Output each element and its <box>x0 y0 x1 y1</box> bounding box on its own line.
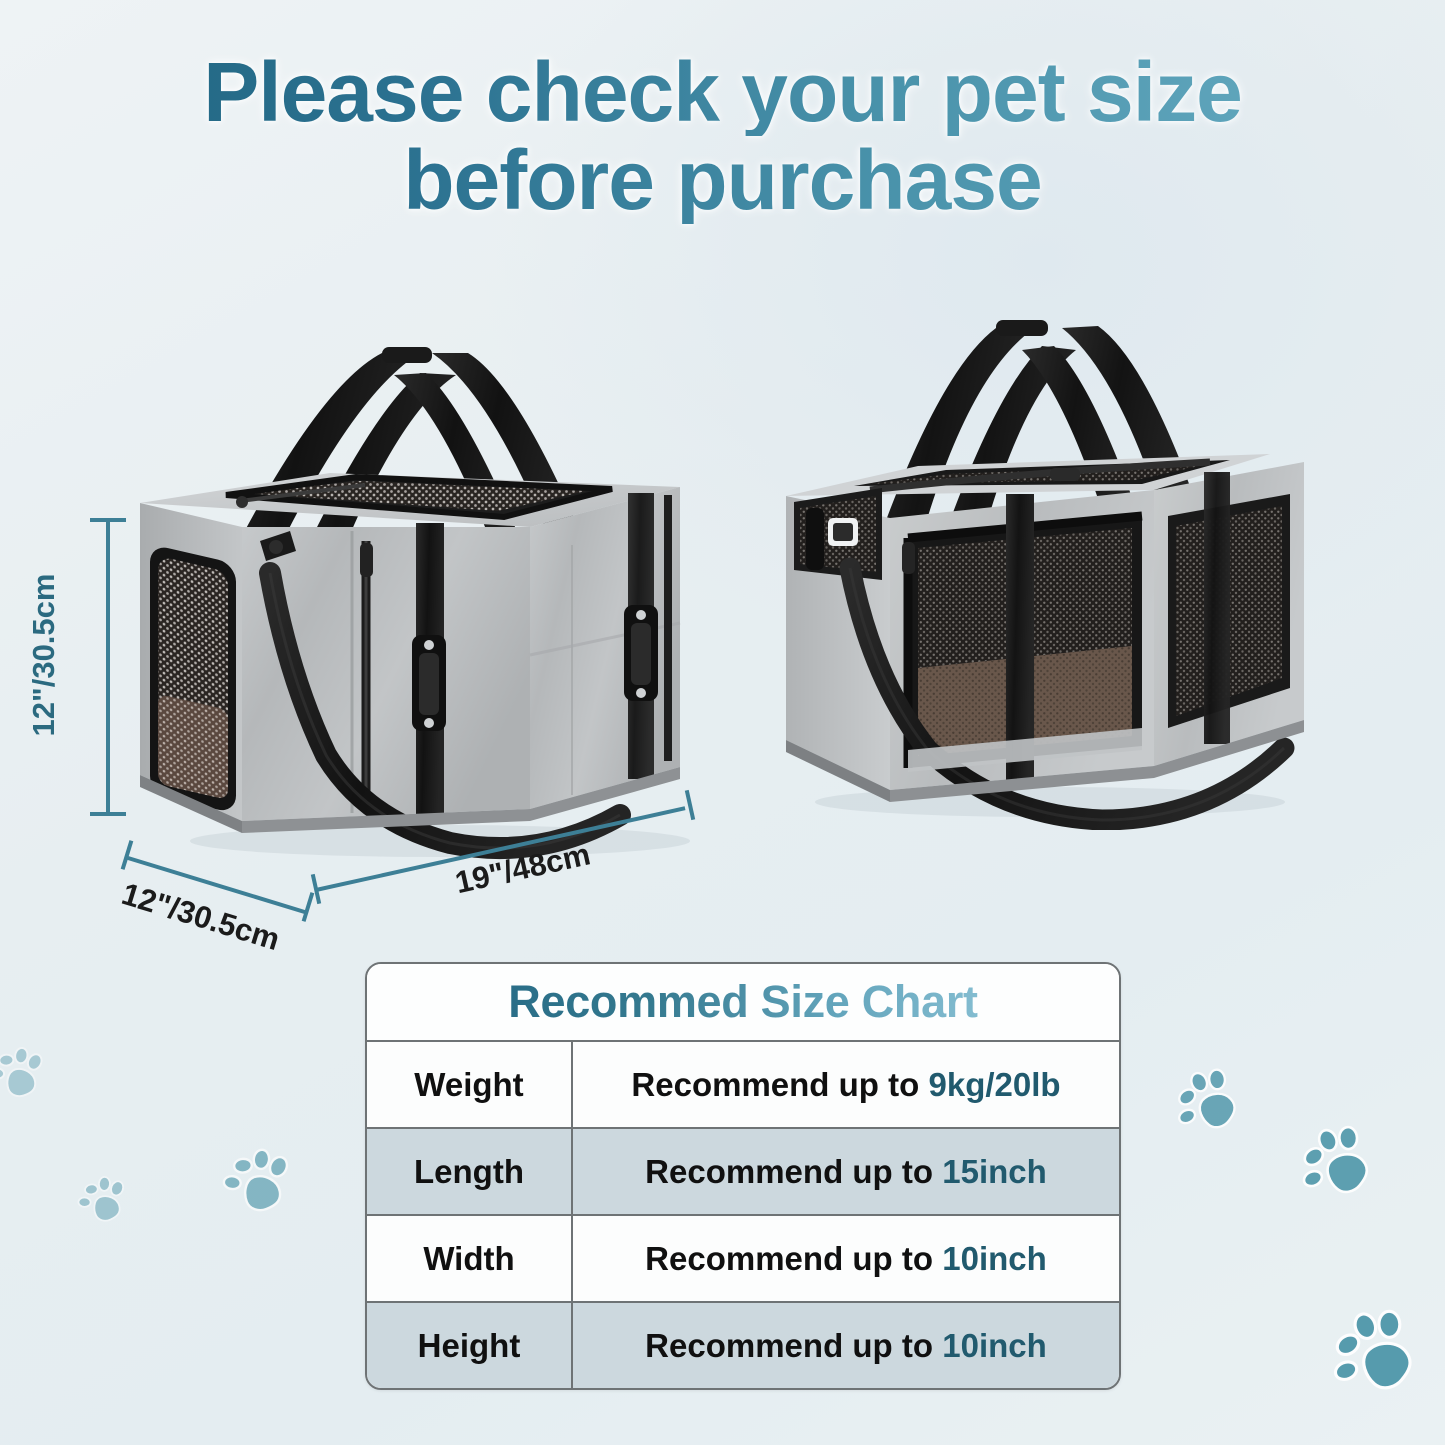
buckle-front <box>412 635 446 731</box>
size-chart-header: Recommed Size Chart <box>367 964 1119 1042</box>
page-title: Please check your pet size before purcha… <box>0 48 1445 224</box>
product-image-carrier-side <box>120 255 740 865</box>
buckle-side <box>624 605 658 701</box>
table-row: HeightRecommend up to10inch <box>367 1303 1119 1388</box>
size-chart-value-highlight: 10inch <box>942 1240 1047 1278</box>
paw-print-4 <box>1159 1053 1255 1149</box>
size-chart-value-prefix: Recommend up to <box>645 1153 933 1191</box>
size-chart-value-prefix: Recommend up to <box>645 1240 933 1278</box>
page-title-line-1: Please check your pet size <box>0 48 1445 136</box>
table-row: LengthRecommend up to15inch <box>367 1129 1119 1216</box>
paw-print-1 <box>0 1032 58 1113</box>
paw-print-2 <box>69 1165 138 1234</box>
size-chart-row-label: Width <box>367 1216 573 1301</box>
size-chart-body: WeightRecommend up to9kg/20lbLengthRecom… <box>367 1042 1119 1388</box>
paw-print-3 <box>209 1131 308 1230</box>
dimension-depth-label: 12"/30.5cm <box>117 876 283 958</box>
size-chart-row-value: Recommend up to15inch <box>573 1129 1119 1214</box>
size-chart-value-highlight: 15inch <box>942 1153 1047 1191</box>
product-image-carrier-front <box>750 250 1340 830</box>
size-chart-title: Recommed Size Chart <box>508 976 977 1028</box>
size-chart-value-prefix: Recommend up to <box>631 1066 919 1104</box>
size-chart-value-highlight: 10inch <box>942 1327 1047 1365</box>
size-chart-value-highlight: 9kg/20lb <box>929 1066 1061 1104</box>
size-chart-row-value: Recommend up to9kg/20lb <box>573 1042 1119 1127</box>
size-chart-row-label: Height <box>367 1303 573 1388</box>
paw-print-5 <box>1283 1109 1390 1216</box>
dimension-height-label: 12"/30.5cm <box>26 574 62 737</box>
size-chart-row-label: Length <box>367 1129 573 1214</box>
size-chart-value-prefix: Recommend up to <box>645 1327 933 1365</box>
table-row: WeightRecommend up to9kg/20lb <box>367 1042 1119 1129</box>
size-chart-row-value: Recommend up to10inch <box>573 1303 1119 1388</box>
size-chart-row-label: Weight <box>367 1042 573 1127</box>
table-row: WidthRecommend up to10inch <box>367 1216 1119 1303</box>
size-chart-row-value: Recommend up to10inch <box>573 1216 1119 1301</box>
paw-print-6 <box>1312 1290 1435 1413</box>
page-title-line-2: before purchase <box>0 136 1445 224</box>
recommended-size-chart: Recommed Size Chart WeightRecommend up t… <box>365 962 1121 1390</box>
